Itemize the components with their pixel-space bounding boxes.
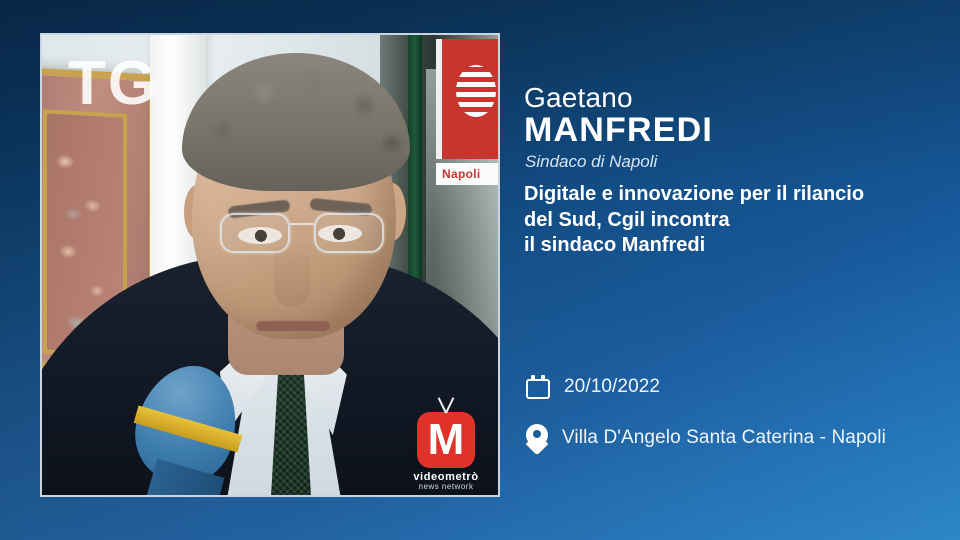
hair	[182, 53, 410, 191]
headline: Digitale e innovazione per il rilancio d…	[524, 182, 952, 259]
video-frame[interactable]: Napoli TG	[40, 33, 500, 497]
nose	[274, 241, 310, 307]
antenna-icon	[430, 396, 462, 413]
map-pin-icon	[526, 424, 548, 452]
tv-icon: M	[417, 412, 475, 468]
video-still: Napoli TG	[42, 35, 498, 495]
headline-line-2: del Sud, Cgil incontra	[524, 208, 952, 234]
calendar-icon	[526, 375, 550, 399]
speaker-role: Sindaco di Napoli	[525, 152, 657, 172]
lens-right	[314, 213, 384, 253]
date-row: 20/10/2022	[526, 375, 660, 399]
mouth	[256, 321, 330, 331]
headline-line-1: Digitale e innovazione per il rilancio	[524, 182, 952, 208]
speaker-last-name: MANFREDI	[524, 113, 713, 147]
logo-letter: M	[417, 412, 475, 468]
glasses-bridge	[290, 223, 314, 225]
info-panel: Gaetano MANFREDI Sindaco di Napoli Digit…	[524, 0, 960, 540]
speaker-first-name: Gaetano	[524, 84, 633, 112]
location-row: Villa D'Angelo Santa Caterina - Napoli	[526, 424, 886, 452]
headline-line-3: il sindaco Manfredi	[524, 233, 952, 259]
event-date: 20/10/2022	[564, 376, 660, 398]
event-location: Villa D'Angelo Santa Caterina - Napoli	[562, 427, 886, 449]
logo-tagline: news network	[408, 482, 484, 491]
brand-logo[interactable]: M videometrò news network	[408, 412, 484, 491]
